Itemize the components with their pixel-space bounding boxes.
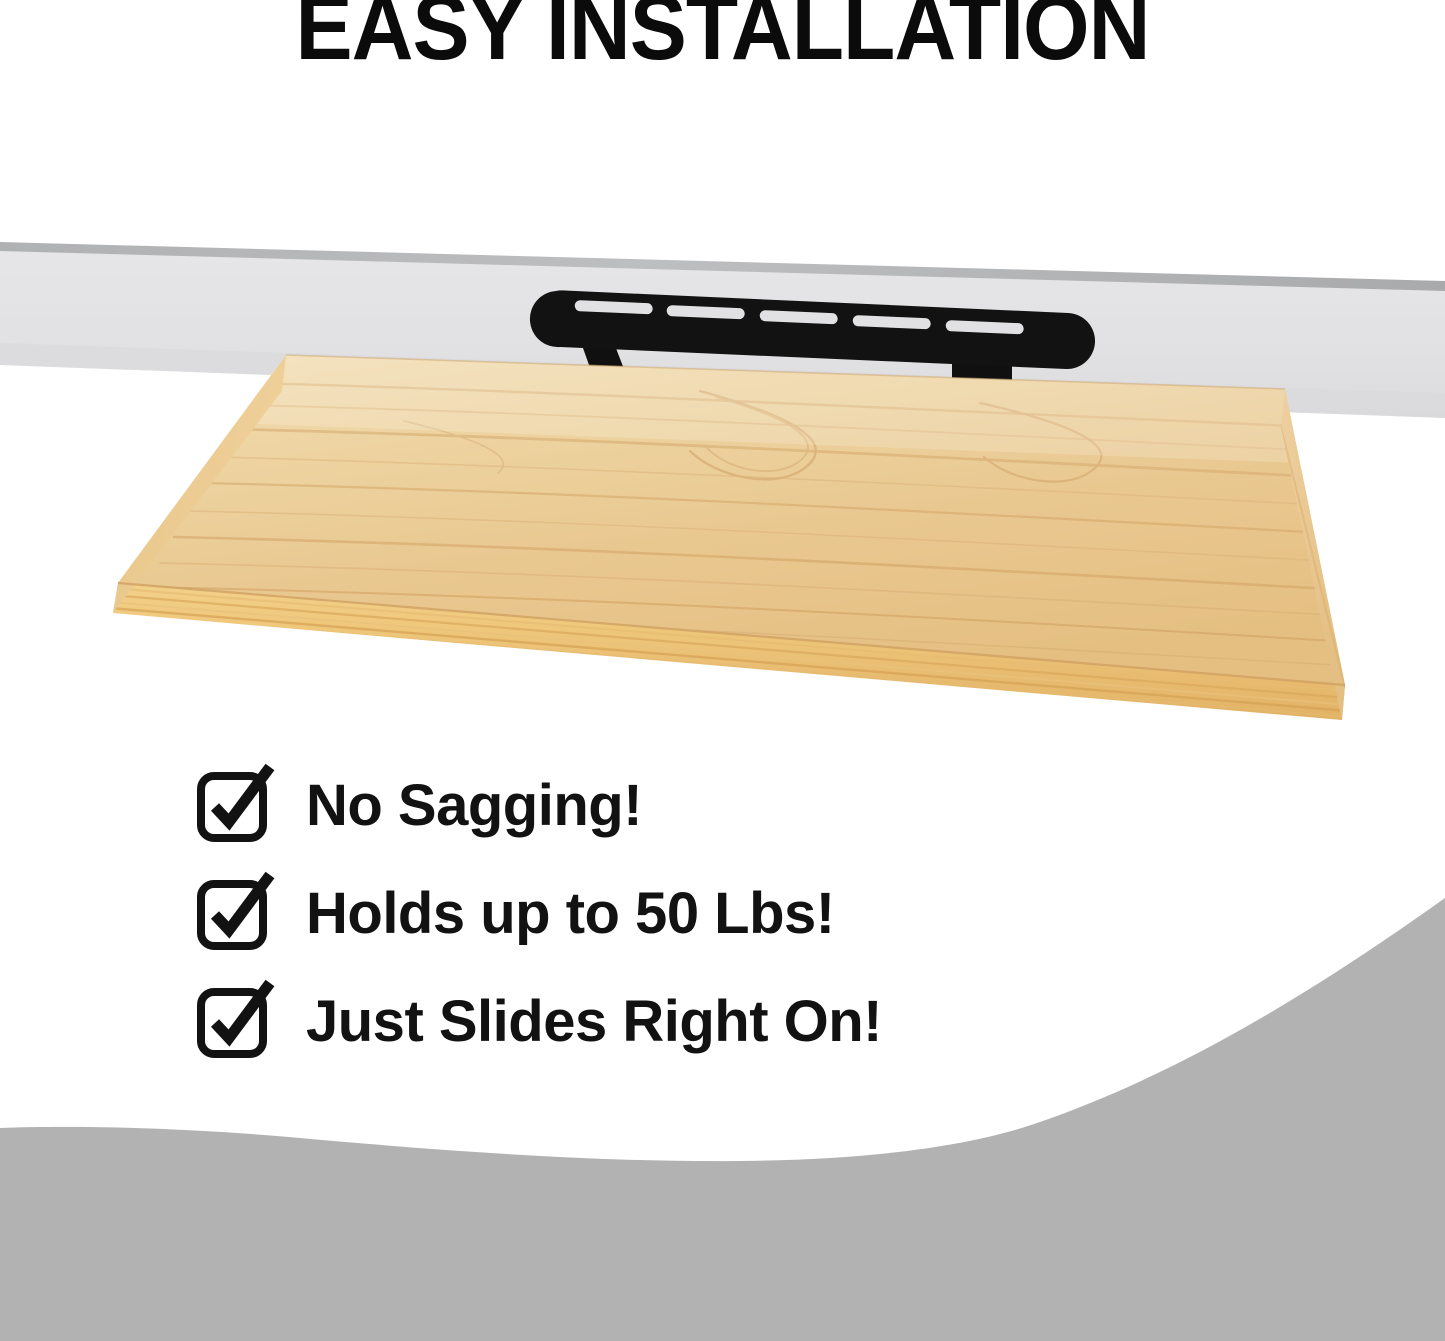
feature-label: Holds up to 50 Lbs! <box>306 885 835 943</box>
checkbox-checked-icon <box>196 985 270 1059</box>
feature-list: No Sagging! Holds up to 50 Lbs! Just Sli… <box>196 752 1196 1076</box>
feature-label: No Sagging! <box>306 777 642 835</box>
wood-shelf <box>110 355 1368 720</box>
page-title: EASY INSTALLATION <box>51 0 1395 74</box>
checkbox-checked-icon <box>196 877 270 951</box>
feature-label: Just Slides Right On! <box>306 993 882 1051</box>
checkbox-checked-icon <box>196 769 270 843</box>
list-item: Holds up to 50 Lbs! <box>196 860 1196 968</box>
infographic-canvas: EASY INSTALLATION <box>0 0 1445 1341</box>
list-item: No Sagging! <box>196 752 1196 860</box>
list-item: Just Slides Right On! <box>196 968 1196 1076</box>
product-scene <box>0 215 1445 760</box>
